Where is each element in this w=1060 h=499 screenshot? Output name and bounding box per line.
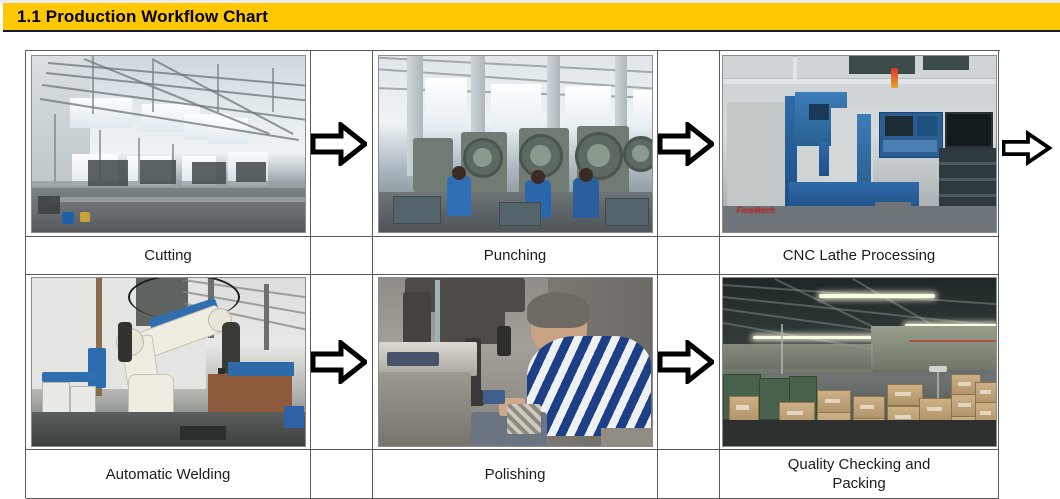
photo-polishing xyxy=(378,277,653,447)
photo-cutting xyxy=(31,55,306,233)
photo-automatic-welding xyxy=(31,277,306,447)
table-row-labels-1: Cutting Punching CNC Lathe Processing xyxy=(26,237,1000,275)
photo-punching xyxy=(378,55,653,233)
cell-arrow-1 xyxy=(311,51,373,237)
label-cnc-lathe-processing: CNC Lathe Processing xyxy=(779,246,940,265)
page-title: 1.1 Production Workflow Chart xyxy=(3,8,268,25)
cell-photo-quality-packing xyxy=(720,275,999,450)
cell-arrow-2 xyxy=(658,51,720,237)
arrow-right-5-wrap xyxy=(1002,117,1060,179)
arrow-right-3 xyxy=(311,275,372,449)
label-automatic-welding: Automatic Welding xyxy=(102,465,235,484)
cell-photo-welding xyxy=(26,275,311,450)
cell-label-polishing: Polishing xyxy=(373,450,658,499)
cell-photo-polishing xyxy=(373,275,658,450)
label-punching: Punching xyxy=(480,246,551,265)
header-bar: 1.1 Production Workflow Chart xyxy=(3,3,1060,32)
table-row-labels-2: Automatic Welding Polishing Quality Chec… xyxy=(26,450,1000,499)
arrow-right-4 xyxy=(658,275,719,449)
production-workflow-page: 1.1 Production Workflow Chart xyxy=(0,0,1060,498)
arrow-right-icon xyxy=(658,340,714,384)
table-row-photos-1: FineMech xyxy=(26,51,1000,237)
cell-label-welding: Automatic Welding xyxy=(26,450,311,499)
workflow-table: FineMech Cutting Punching CNC Lathe Proc… xyxy=(25,50,1000,498)
table-row-photos-2 xyxy=(26,275,1000,450)
cell-label-punching: Punching xyxy=(373,237,658,275)
cell-photo-punching xyxy=(373,51,658,237)
cell-arrow-3 xyxy=(311,275,373,450)
cell-spacer-1 xyxy=(311,237,373,275)
cell-label-cnc: CNC Lathe Processing xyxy=(720,237,999,275)
label-quality-checking-and-packing: Quality Checking and Packing xyxy=(760,455,958,493)
arrow-right-1 xyxy=(311,51,372,236)
label-cutting: Cutting xyxy=(140,246,196,265)
section-header: 1.1 Production Workflow Chart xyxy=(0,0,1060,34)
photo-cnc-lathe: FineMech xyxy=(722,55,997,233)
cell-spacer-2 xyxy=(658,237,720,275)
cell-arrow-4 xyxy=(658,275,720,450)
arrow-right-icon xyxy=(311,340,367,384)
label-polishing: Polishing xyxy=(481,465,550,484)
arrow-right-icon xyxy=(1002,126,1060,170)
cell-spacer-4 xyxy=(658,450,720,499)
arrow-right-2 xyxy=(658,51,719,236)
cnc-brand-text: FineMech xyxy=(737,206,776,215)
photo-quality-checking-packing xyxy=(722,277,997,447)
arrow-right-icon xyxy=(658,122,714,166)
arrow-right-icon xyxy=(311,122,367,166)
cell-photo-cnc: FineMech xyxy=(720,51,999,237)
cell-label-cutting: Cutting xyxy=(26,237,311,275)
cell-label-quality-packing: Quality Checking and Packing xyxy=(720,450,999,499)
cell-photo-cutting xyxy=(26,51,311,237)
cell-spacer-3 xyxy=(311,450,373,499)
